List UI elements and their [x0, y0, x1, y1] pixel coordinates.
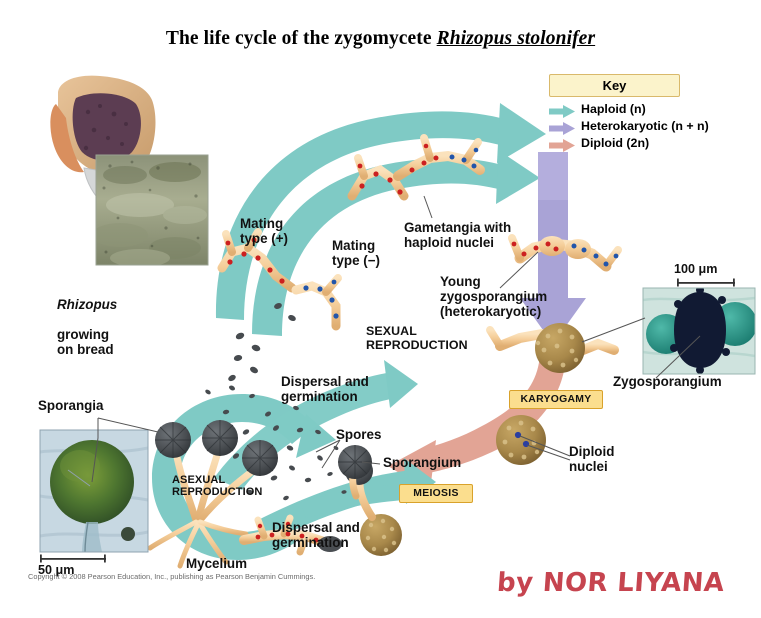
- zygosporangium-micrograph: [643, 286, 757, 374]
- heterokaryotic-arrow-icon: [549, 122, 575, 135]
- key-label-diploid: Diploid (2n): [581, 136, 649, 150]
- label-diploid-nuclei: Diploid nuclei: [569, 444, 614, 474]
- key-label-haploid: Haploid (n): [581, 102, 646, 116]
- haploid-arrow-icon: [549, 105, 575, 118]
- label-dispersal-lower: Dispersal and germination: [272, 520, 360, 550]
- label-asexual-reproduction: ASEXUAL REPRODUCTION: [172, 474, 262, 499]
- label-gametangia: Gametangia with haploid nuclei: [404, 220, 511, 250]
- label-sexual-reproduction: SEXUAL REPRODUCTION: [366, 325, 468, 353]
- tag-meiosis: MEIOSIS: [399, 484, 473, 503]
- zygosporangium-mature: [490, 323, 614, 373]
- label-rhizopus-italic: Rhizopus: [57, 297, 117, 312]
- label-spores: Spores: [336, 427, 381, 442]
- label-rhizopus-on-bread: Rhizopus growing on bread: [57, 282, 117, 357]
- key-label-heterokaryotic: Heterokaryotic (n + n): [581, 119, 709, 133]
- spore-cloud-upper: [227, 331, 261, 382]
- gametangia-leader: [424, 196, 432, 218]
- copyright-notice: Copyright © 2008 Pearson Education, Inc.…: [28, 572, 315, 581]
- label-young-zygosporangium: Young zygosporangium (heterokaryotic): [440, 274, 547, 319]
- zygosporangium-diploid: [496, 415, 570, 465]
- key-heading: Key: [549, 74, 680, 97]
- diagram-canvas: The life cycle of the zygomycete Rhizopu…: [0, 0, 761, 618]
- zygosporangium-photo-leader: [582, 318, 645, 342]
- label-mycelium: Mycelium: [186, 556, 247, 571]
- label-mating-type-minus: Mating type (−): [332, 238, 380, 268]
- mold-closeup-photo: [92, 155, 208, 267]
- label-mating-type-plus: Mating type (+): [240, 216, 288, 246]
- label-zygosporangium: Zygosporangium: [613, 374, 722, 389]
- diploid-arrow-icon: [549, 139, 575, 152]
- scale-bar-100: [677, 279, 735, 287]
- label-rhizopus-rest: growing on bread: [57, 327, 114, 357]
- scale-bar-50: [40, 555, 106, 563]
- sporangium-micrograph: [40, 430, 148, 552]
- label-sporangium: Sporangium: [383, 455, 461, 470]
- label-sporangia: Sporangia: [38, 398, 103, 413]
- scale-label-100um: 100 μm: [674, 262, 717, 276]
- label-dispersal-upper: Dispersal and germination: [281, 374, 369, 404]
- hypha-mating-minus: [296, 278, 339, 326]
- tag-karyogamy: KARYOGAMY: [509, 390, 603, 409]
- author-signature: by NOR LIYANA: [496, 568, 725, 598]
